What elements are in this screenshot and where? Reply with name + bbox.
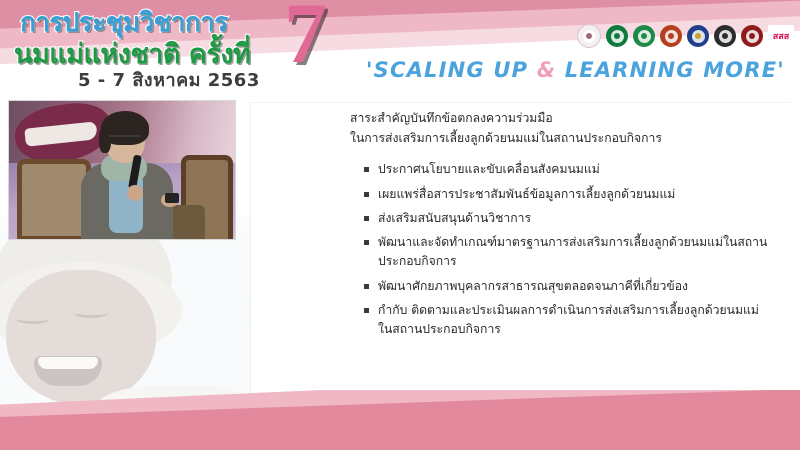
presentation-slide: การประชุมวิชาการ นมแม่แห่งชาติ ครั้งที่ …: [0, 0, 800, 450]
list-item: เผยแพร่สื่อสารประชาสัมพันธ์ข้อมูลการเลี้…: [364, 185, 770, 204]
tagline-prefix: 'SCALING UP: [366, 58, 537, 82]
logo-black-seal-icon: [714, 25, 736, 47]
content-lead-line1: สาระสำคัญบันทึกข้อตกลงความร่วมมือ: [350, 108, 770, 128]
content-bullet-list: ประกาศนโยบายและขับเคลื่อนสังคมนมแม่ เผยแ…: [350, 160, 770, 339]
slide-body: สาระสำคัญบันทึกข้อตกลงความร่วมมือ ในการส…: [0, 96, 800, 450]
list-item: ประกาศนโยบายและขับเคลื่อนสังคมนมแม่: [364, 160, 770, 179]
content-divider: [250, 102, 251, 398]
conference-tagline: 'SCALING UP & LEARNING MORE': [366, 58, 785, 82]
logo-thai-crest-blue-icon: [687, 25, 709, 47]
content-top-rule: [250, 102, 790, 103]
content-lead: สาระสำคัญบันทึกข้อตกลงความร่วมมือ ในการส…: [350, 108, 770, 148]
list-item: ส่งเสริมสนับสนุนด้านวิชาการ: [364, 209, 770, 228]
slide-content: สาระสำคัญบันทึกข้อตกลงความร่วมมือ ในการส…: [350, 108, 770, 344]
list-item: พัฒนาและจัดทำเกณฑ์มาตรฐานการส่งเสริมการเ…: [364, 233, 770, 272]
content-lead-line2: ในการส่งเสริมการเลี้ยงลูกด้วยนมแม่ในสถาน…: [350, 128, 770, 148]
logo-ministry-public-health-icon: [606, 25, 628, 47]
list-item: พัฒนาศักยภาพบุคลากรสาธารณสุขตลอดจนภาคีที…: [364, 277, 770, 296]
list-item: กำกับ ติดตามและประเมินผลการดำเนินการส่งเ…: [364, 301, 770, 340]
conference-date: 5 - 7 สิงหาคม 2563: [78, 65, 260, 94]
logo-royal-emblem-icon: [577, 24, 601, 48]
logo-thaihealth-icon: สสส: [768, 25, 794, 47]
tagline-suffix: LEARNING MORE': [556, 58, 785, 82]
logo-red-seal-icon: [741, 25, 763, 47]
bottom-decorative-wedge: [0, 390, 800, 450]
slide-header-banner: การประชุมวิชาการ นมแม่แห่งชาติ ครั้งที่ …: [0, 0, 800, 96]
speaker-video-panel[interactable]: [8, 100, 236, 240]
tagline-ampersand: &: [537, 58, 557, 82]
organization-logo-row: สสส: [577, 24, 794, 48]
logo-health-dept-icon: [633, 25, 655, 47]
conference-edition-number: 7: [284, 0, 327, 76]
logo-thai-crest-red-icon: [660, 25, 682, 47]
